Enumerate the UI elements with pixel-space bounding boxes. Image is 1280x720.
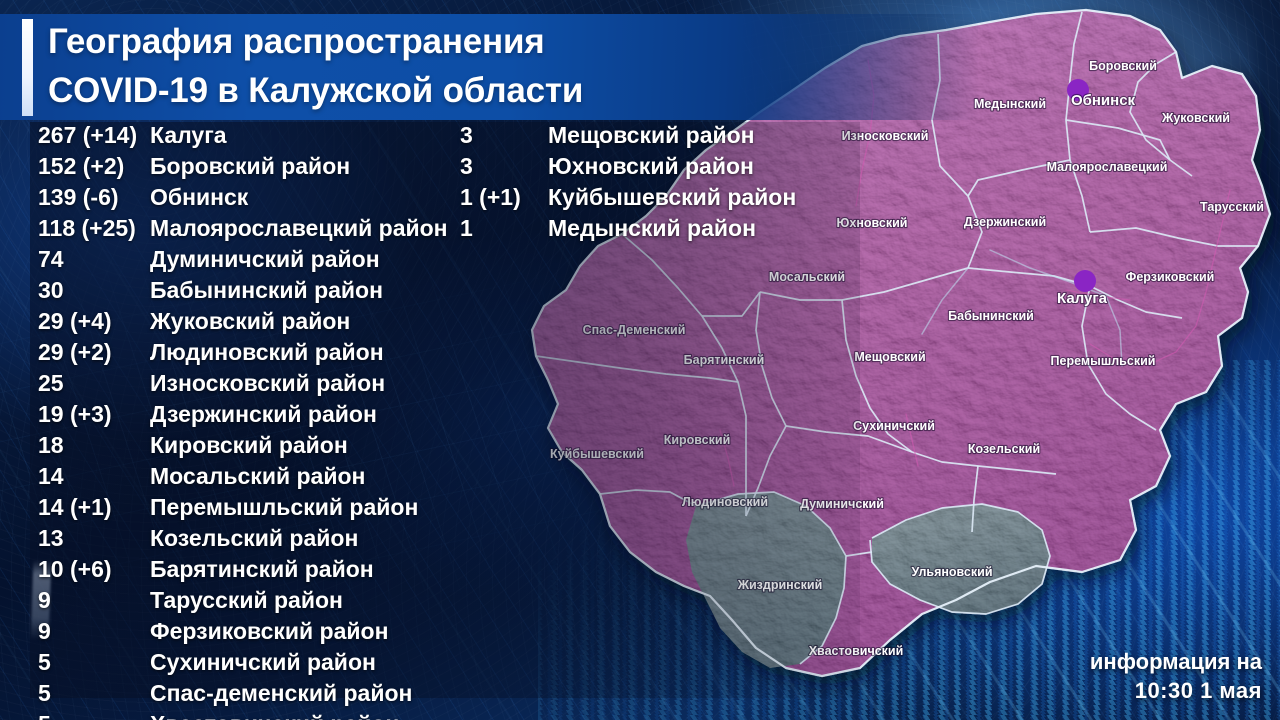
stats-case-count: 10 (+6)	[38, 556, 150, 583]
map-label-district: Малоярославецкий	[1047, 160, 1168, 174]
stats-territory-name: Перемышльский район	[150, 494, 418, 521]
stats-territory-name: Калуга	[150, 122, 227, 149]
timestamp-line-2: 10:30 1 мая	[1090, 676, 1262, 706]
stats-row: 13Козельский район	[38, 525, 438, 556]
stats-case-count: 14	[38, 463, 150, 490]
stats-territory-name: Барятинский район	[150, 556, 374, 583]
stats-territory-name: Малоярославецкий район	[150, 215, 448, 242]
stats-row: 14Мосальский район	[38, 463, 438, 494]
stats-row: 74Думиничский район	[38, 246, 438, 277]
timestamp-line-1: информация на	[1090, 647, 1262, 677]
stats-territory-name: Думиничский район	[150, 246, 380, 273]
stats-case-count: 1	[460, 215, 548, 242]
stats-territory-name: Людиновский район	[150, 339, 384, 366]
map-label-district: Перемышльский	[1051, 354, 1156, 368]
map-label-city: Калуга	[1057, 290, 1108, 307]
map-label-district: Ферзиковский	[1126, 270, 1215, 284]
map-label-district: Мещовский	[854, 350, 925, 364]
stats-case-count: 19 (+3)	[38, 401, 150, 428]
stats-case-count: 118 (+25)	[38, 215, 150, 242]
stats-row: 1 (+1)Куйбышевский район	[460, 184, 855, 215]
stats-case-count: 9	[38, 587, 150, 614]
stats-territory-name: Мещовский район	[548, 122, 755, 149]
stats-row: 29 (+2)Людиновский район	[38, 339, 438, 370]
map-label-district: Жуковский	[1161, 111, 1230, 125]
stats-territory-name: Сухиничский район	[150, 649, 376, 676]
stats-row: 25Износковский район	[38, 370, 438, 401]
stats-row: 152 (+2)Боровский район	[38, 153, 438, 184]
stats-row: 10 (+6)Барятинский район	[38, 556, 438, 587]
statistics-panel: 267 (+14)Калуга152 (+2)Боровский район13…	[30, 122, 860, 698]
title-accent-bar	[22, 19, 33, 116]
stats-territory-name: Боровский район	[150, 153, 350, 180]
stats-case-count: 74	[38, 246, 150, 273]
stats-case-count: 3	[460, 153, 548, 180]
map-label-district: Боровский	[1089, 59, 1157, 73]
stats-case-count: 9	[38, 618, 150, 645]
stats-case-count: 18	[38, 432, 150, 459]
page-title: География распространения COVID-19 в Кал…	[48, 17, 948, 115]
stats-row: 9Ферзиковский район	[38, 618, 438, 649]
stats-territory-name: Юхновский район	[548, 153, 754, 180]
infographic-canvas: ИзносковскийМедынскийБоровскийЖуковскийМ…	[0, 0, 1280, 720]
stats-row: 14 (+1)Перемышльский район	[38, 494, 438, 525]
stats-row: 29 (+4)Жуковский район	[38, 308, 438, 339]
map-label-district: Козельский	[968, 442, 1040, 456]
stats-row: 30Бабынинский район	[38, 277, 438, 308]
stats-territory-name: Мосальский район	[150, 463, 365, 490]
stats-territory-name: Износковский район	[150, 370, 385, 397]
stats-column-right: 3Мещовский район3Юхновский район1 (+1)Ку…	[460, 122, 855, 246]
stats-row: 1Медынский район	[460, 215, 855, 246]
stats-case-count: 29 (+2)	[38, 339, 150, 366]
stats-row: 9Тарусский район	[38, 587, 438, 618]
stats-territory-name: Спас-деменский район	[150, 680, 412, 707]
stats-territory-name: Тарусский район	[150, 587, 343, 614]
map-label-district: Медынский	[974, 97, 1046, 111]
stats-row: 18Кировский район	[38, 432, 438, 463]
stats-territory-name: Кировский район	[150, 432, 348, 459]
stats-case-count: 139 (-6)	[38, 184, 150, 211]
map-label-district: Тарусский	[1200, 200, 1264, 214]
map-label-district: Дзержинский	[964, 215, 1046, 229]
stats-case-count: 14 (+1)	[38, 494, 150, 521]
stats-case-count: 13	[38, 525, 150, 552]
stats-territory-name: Хвастовичский район	[150, 711, 399, 720]
stats-row: 267 (+14)Калуга	[38, 122, 438, 153]
stats-row: 118 (+25)Малоярославецкий район	[38, 215, 438, 246]
stats-case-count: 30	[38, 277, 150, 304]
stats-territory-name: Ферзиковский район	[150, 618, 388, 645]
stats-row: 19 (+3)Дзержинский район	[38, 401, 438, 432]
map-label-city: Обнинск	[1071, 92, 1136, 109]
stats-case-count: 5	[38, 680, 150, 707]
stats-case-count: 5	[38, 711, 150, 720]
stats-row: 5Сухиничский район	[38, 649, 438, 680]
stats-case-count: 1 (+1)	[460, 184, 548, 211]
stats-case-count: 152 (+2)	[38, 153, 150, 180]
map-city-dot-marker	[1074, 270, 1096, 292]
map-label-district: Бабынинский	[948, 309, 1034, 323]
stats-territory-name: Дзержинский район	[150, 401, 377, 428]
stats-row: 3Юхновский район	[460, 153, 855, 184]
stats-territory-name: Козельский район	[150, 525, 358, 552]
information-timestamp: информация на 10:30 1 мая	[1090, 647, 1262, 706]
stats-territory-name: Медынский район	[548, 215, 756, 242]
stats-territory-name: Жуковский район	[150, 308, 350, 335]
stats-territory-name: Обнинск	[150, 184, 248, 211]
stats-case-count: 29 (+4)	[38, 308, 150, 335]
stats-case-count: 25	[38, 370, 150, 397]
stats-row: 5Спас-деменский район	[38, 680, 438, 711]
stats-row: 5Хвастовичский район	[38, 711, 438, 720]
stats-territory-name: Куйбышевский район	[548, 184, 796, 211]
stats-row: 3Мещовский район	[460, 122, 855, 153]
map-label-district: Ульяновский	[911, 565, 992, 579]
stats-territory-name: Бабынинский район	[150, 277, 383, 304]
stats-column-left: 267 (+14)Калуга152 (+2)Боровский район13…	[38, 122, 438, 720]
stats-case-count: 5	[38, 649, 150, 676]
stats-row: 139 (-6)Обнинск	[38, 184, 438, 215]
stats-case-count: 267 (+14)	[38, 122, 150, 149]
stats-case-count: 3	[460, 122, 548, 149]
map-label-district: Сухиничский	[853, 419, 935, 433]
